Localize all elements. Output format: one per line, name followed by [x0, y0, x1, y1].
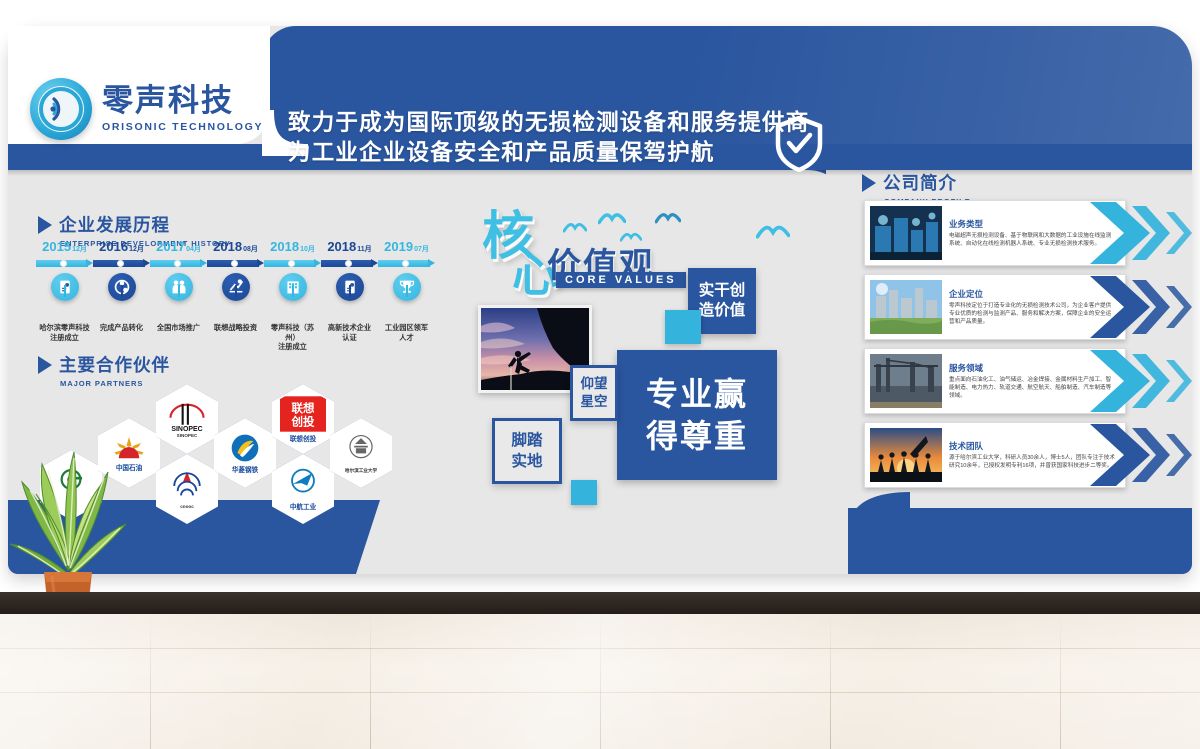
partner-hex[interactable]: 联想创投联想创投	[272, 384, 334, 454]
timeline-arrow	[150, 259, 207, 268]
partner-logo: SINOPECSINOPEC	[158, 386, 216, 452]
value-block-yangwang: 仰望星空	[570, 365, 618, 421]
timeline-year: 201704月	[150, 240, 207, 256]
partner-logo: 中航工业	[274, 456, 332, 522]
timeline-item: 201512月哈尔滨零声科技注册成立	[36, 240, 93, 342]
decor-square-cyan	[665, 310, 701, 344]
profile-title-cn: 公司简介	[883, 170, 957, 195]
timeline-month: 12月	[72, 246, 87, 253]
timeline-arrow	[378, 259, 435, 268]
chevron-right-icon	[1090, 202, 1196, 264]
timeline-month: 10月	[300, 246, 315, 253]
timeline-item: 201907月工业园区领军人才	[378, 240, 435, 342]
timeline-arrow	[321, 259, 378, 268]
timeline-item: 201612月完成产品转化	[93, 240, 150, 333]
timeline-label: 完成产品转化	[93, 323, 150, 333]
partner-logo: cnooc	[158, 456, 216, 522]
timeline-month: 07月	[414, 246, 429, 253]
bird-icon	[756, 224, 790, 241]
partner-hex[interactable]: cnooc	[156, 454, 218, 524]
partner-hex[interactable]: SINOPECSINOPEC	[156, 384, 218, 454]
svg-text:SINOPEC: SINOPEC	[171, 425, 202, 431]
partners-title-cn: 主要合作伙伴	[59, 352, 170, 377]
timeline-arrow	[207, 259, 264, 268]
timeline-item: 201810月零声科技（苏州）注册成立	[264, 240, 321, 352]
partner-hex[interactable]: 中航工业	[272, 454, 334, 524]
timeline-item: 201704月全国市场推广	[150, 240, 207, 333]
timeline-year: 201808月	[207, 240, 264, 256]
plate-drop-shadow	[8, 170, 1192, 176]
partner-hex[interactable]: 哈尔滨工业大学	[330, 418, 392, 488]
svg-text:联想: 联想	[292, 401, 315, 415]
shield-check-icon	[775, 116, 823, 172]
timeline-year: 201512月	[36, 240, 93, 256]
timeline-year: 201907月	[378, 240, 435, 256]
value-block-main: 专业赢得尊重	[617, 350, 777, 480]
timeline-arrow	[93, 259, 150, 268]
header-slogan: 致力于成为国际顶级的无损检测设备和服务提供商 为工业企业设备安全和产品质量保驾护…	[288, 108, 809, 168]
logo-name-en: ORISONIC TECHNOLOGY	[102, 121, 263, 133]
partner-logo: 华菱钢铁	[216, 420, 274, 486]
partner-hex[interactable]: 华菱钢铁	[214, 418, 276, 488]
history-title-cn: 企业发展历程	[59, 212, 170, 237]
timeline-year: 201612月	[93, 240, 150, 256]
timeline-label: 工业园区领军人才	[378, 323, 435, 342]
core-values-title-en: CORE VALUES	[556, 272, 686, 288]
timeline-item: 201811月高新技术企业认证	[321, 240, 378, 342]
profile-card[interactable]: 服务领域重点面向石油化工、油气储运、冶金焊接、金属材料生产加工、智能制造、电力热…	[864, 348, 1126, 414]
profile-card[interactable]: 企业定位零声科技定位于打造专业化的无损检测技术公司，为企业客户提供专业优质的检测…	[864, 274, 1126, 340]
timeline-year: 201810月	[264, 240, 321, 256]
logo-name-cn: 零声科技	[102, 85, 263, 116]
company-logo: 零声科技 ORISONIC TECHNOLOGY	[30, 78, 263, 140]
profile-card[interactable]: 技术团队源于哈尔滨工业大学，科研人员30余人，博士5人，团队专注于技术研究10余…	[864, 422, 1126, 488]
value-block-jiaota: 脚踏实地	[492, 418, 562, 484]
timeline-arrow	[36, 259, 93, 268]
slogan-line-1: 致力于成为国际顶级的无损检测设备和服务提供商	[288, 108, 809, 138]
decor-square-cyan	[571, 480, 597, 505]
timeline-month: 12月	[129, 246, 144, 253]
bird-icon	[598, 212, 626, 226]
timeline-arrow	[264, 259, 321, 268]
refinery-plant-photo	[870, 354, 942, 408]
triangle-right-icon	[38, 356, 52, 374]
culture-wall-scene: 零声科技 ORISONIC TECHNOLOGY 致力于成为国际顶级的无损检测设…	[0, 0, 1200, 749]
team-silhouette-photo	[870, 428, 942, 482]
timeline-label: 联想战略投资	[207, 323, 264, 333]
industrial-equipment-photo	[870, 206, 942, 260]
bird-icon	[620, 232, 642, 243]
timeline-month: 04月	[186, 246, 201, 253]
svg-text:创投: 创投	[291, 414, 315, 428]
timeline-item: 201808月联想战略投资	[207, 240, 264, 333]
timeline-label: 高新技术企业认证	[321, 323, 378, 342]
city-skyline-photo	[870, 280, 942, 334]
chevron-right-icon	[1090, 350, 1196, 412]
timeline-month: 11月	[357, 246, 371, 253]
timeline-year: 201811月	[321, 240, 378, 256]
development-timeline: 201512月哈尔滨零声科技注册成立201612月完成产品转化201704月全国…	[36, 240, 436, 340]
bird-icon	[655, 212, 681, 225]
chevron-right-icon	[1090, 276, 1196, 338]
timeline-label: 哈尔滨零声科技注册成立	[36, 323, 93, 342]
triangle-right-icon	[38, 216, 52, 234]
timeline-label: 全国市场推广	[150, 323, 207, 333]
profile-card[interactable]: 业务类型电磁超声无损检测设备、基于物联网和大数据的工业设施在线监测系统、自动化在…	[864, 200, 1126, 266]
sonic-wave-icon	[30, 78, 92, 140]
chevron-right-icon	[1090, 424, 1196, 486]
floor	[0, 614, 1200, 749]
partner-logo: 哈尔滨工业大学	[332, 420, 390, 486]
timeline-month: 08月	[243, 246, 258, 253]
timeline-label: 零声科技（苏州）注册成立	[264, 323, 321, 352]
triangle-right-icon	[862, 174, 876, 192]
partner-logo: 联想创投联想创投	[274, 386, 332, 452]
slogan-line-2: 为工业企业设备安全和产品质量保驾护航	[288, 138, 809, 168]
bird-icon	[563, 222, 587, 234]
baseboard	[0, 592, 1200, 614]
